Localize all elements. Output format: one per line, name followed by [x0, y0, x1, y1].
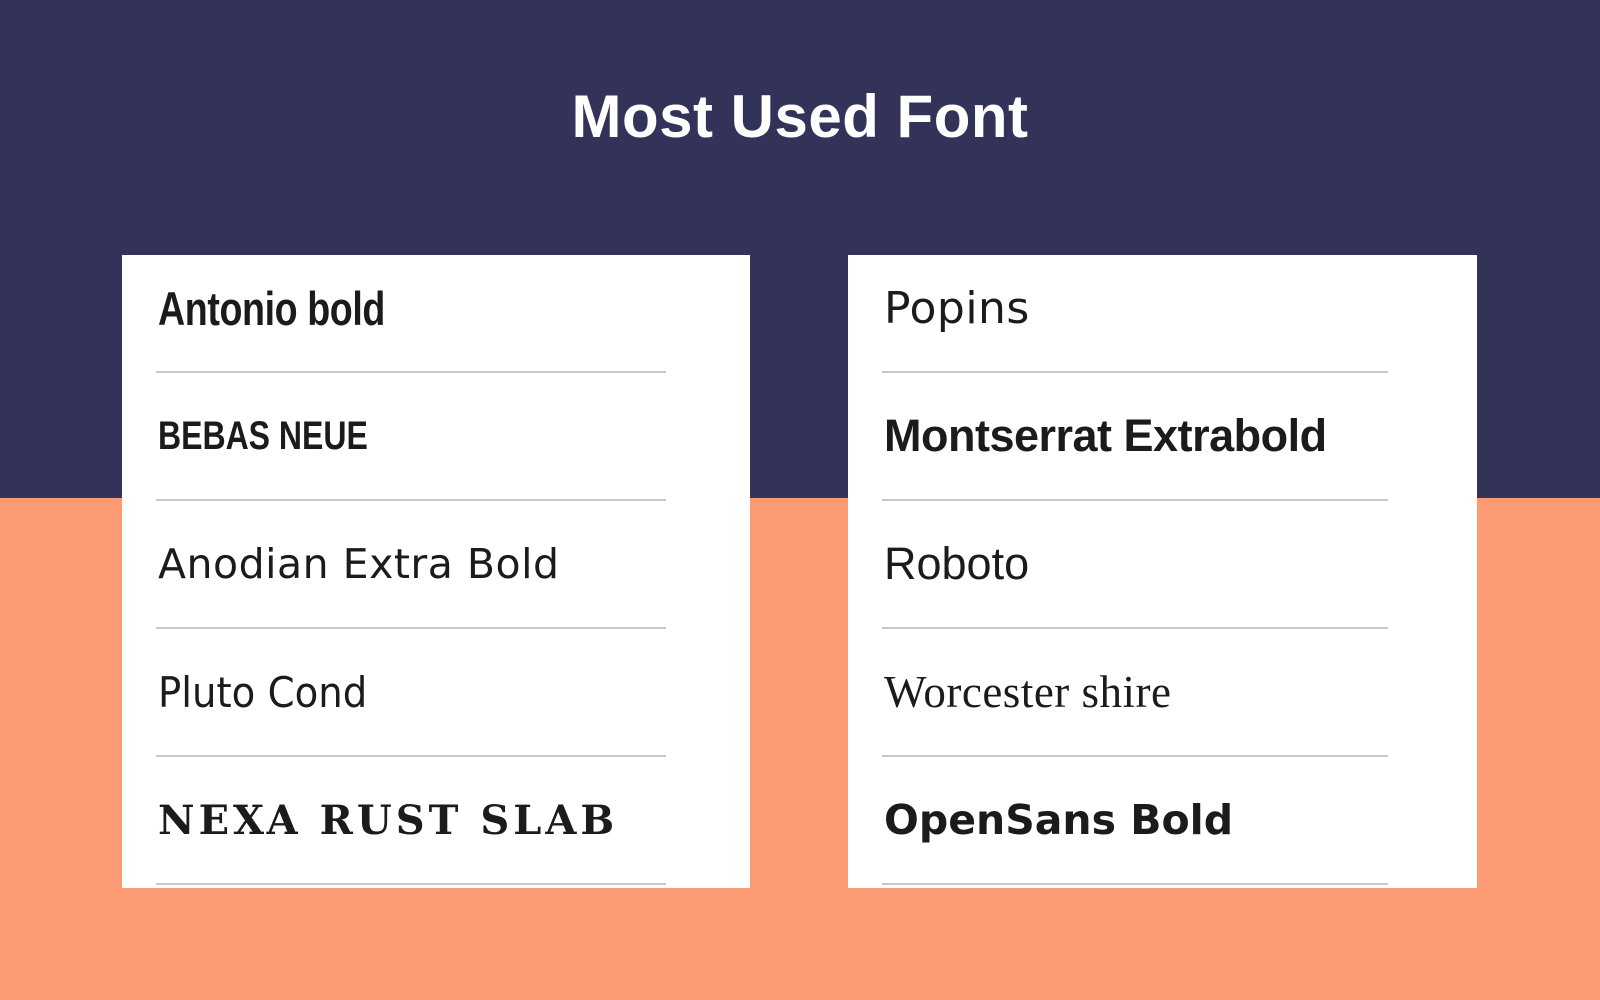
- font-list-item[interactable]: Montserrat Extrabold: [848, 388, 1477, 515]
- font-list-item[interactable]: Roboto: [848, 516, 1477, 643]
- row-divider: [156, 883, 666, 885]
- row-divider: [156, 627, 666, 629]
- font-list-item[interactable]: Worcester shire: [848, 644, 1477, 771]
- row-divider: [156, 499, 666, 501]
- row-divider: [156, 371, 666, 373]
- font-list-left: Antonio bold BEBAS NEUE Anodian Extra Bo…: [122, 255, 750, 888]
- font-sample-anodian-extra-bold: Anodian Extra Bold: [158, 516, 720, 612]
- font-sample-montserrat-extrabold: Montserrat Extrabold: [884, 388, 1447, 484]
- page-title: Most Used Font: [0, 78, 1600, 156]
- font-list-right: Popins Montserrat Extrabold Roboto Worce…: [848, 255, 1477, 888]
- font-list-item[interactable]: BEBAS NEUE: [122, 388, 750, 515]
- font-list-item[interactable]: Popins: [848, 260, 1477, 387]
- row-divider: [882, 755, 1388, 757]
- font-sample-opensans-bold: OpenSans Bold: [884, 772, 1447, 868]
- row-divider: [882, 499, 1388, 501]
- font-sample-popins: Popins: [884, 260, 1447, 356]
- font-list-item[interactable]: NEXA RUST SLAB: [122, 772, 750, 899]
- row-divider: [156, 755, 666, 757]
- poster-canvas: Most Used Font Antonio bold BEBAS NEUE A…: [0, 0, 1600, 1000]
- row-divider: [882, 371, 1388, 373]
- font-list-item[interactable]: OpenSans Bold: [848, 772, 1477, 899]
- font-sample-antonio-bold: Antonio bold: [158, 260, 608, 356]
- font-sample-roboto: Roboto: [884, 516, 1447, 612]
- font-card-right: Popins Montserrat Extrabold Roboto Worce…: [848, 255, 1477, 888]
- row-divider: [882, 627, 1388, 629]
- font-sample-bebas-neue: BEBAS NEUE: [158, 388, 608, 484]
- row-divider: [882, 883, 1388, 885]
- font-list-item[interactable]: Pluto Cond: [122, 644, 750, 771]
- font-list-item[interactable]: Antonio bold: [122, 260, 750, 387]
- font-card-left: Antonio bold BEBAS NEUE Anodian Extra Bo…: [122, 255, 750, 888]
- font-sample-worcester-shire: Worcester shire: [884, 644, 1447, 740]
- font-sample-nexa-rust-slab: NEXA RUST SLAB: [158, 772, 720, 868]
- font-sample-pluto-cond: Pluto Cond: [158, 644, 675, 740]
- font-list-item[interactable]: Anodian Extra Bold: [122, 516, 750, 643]
